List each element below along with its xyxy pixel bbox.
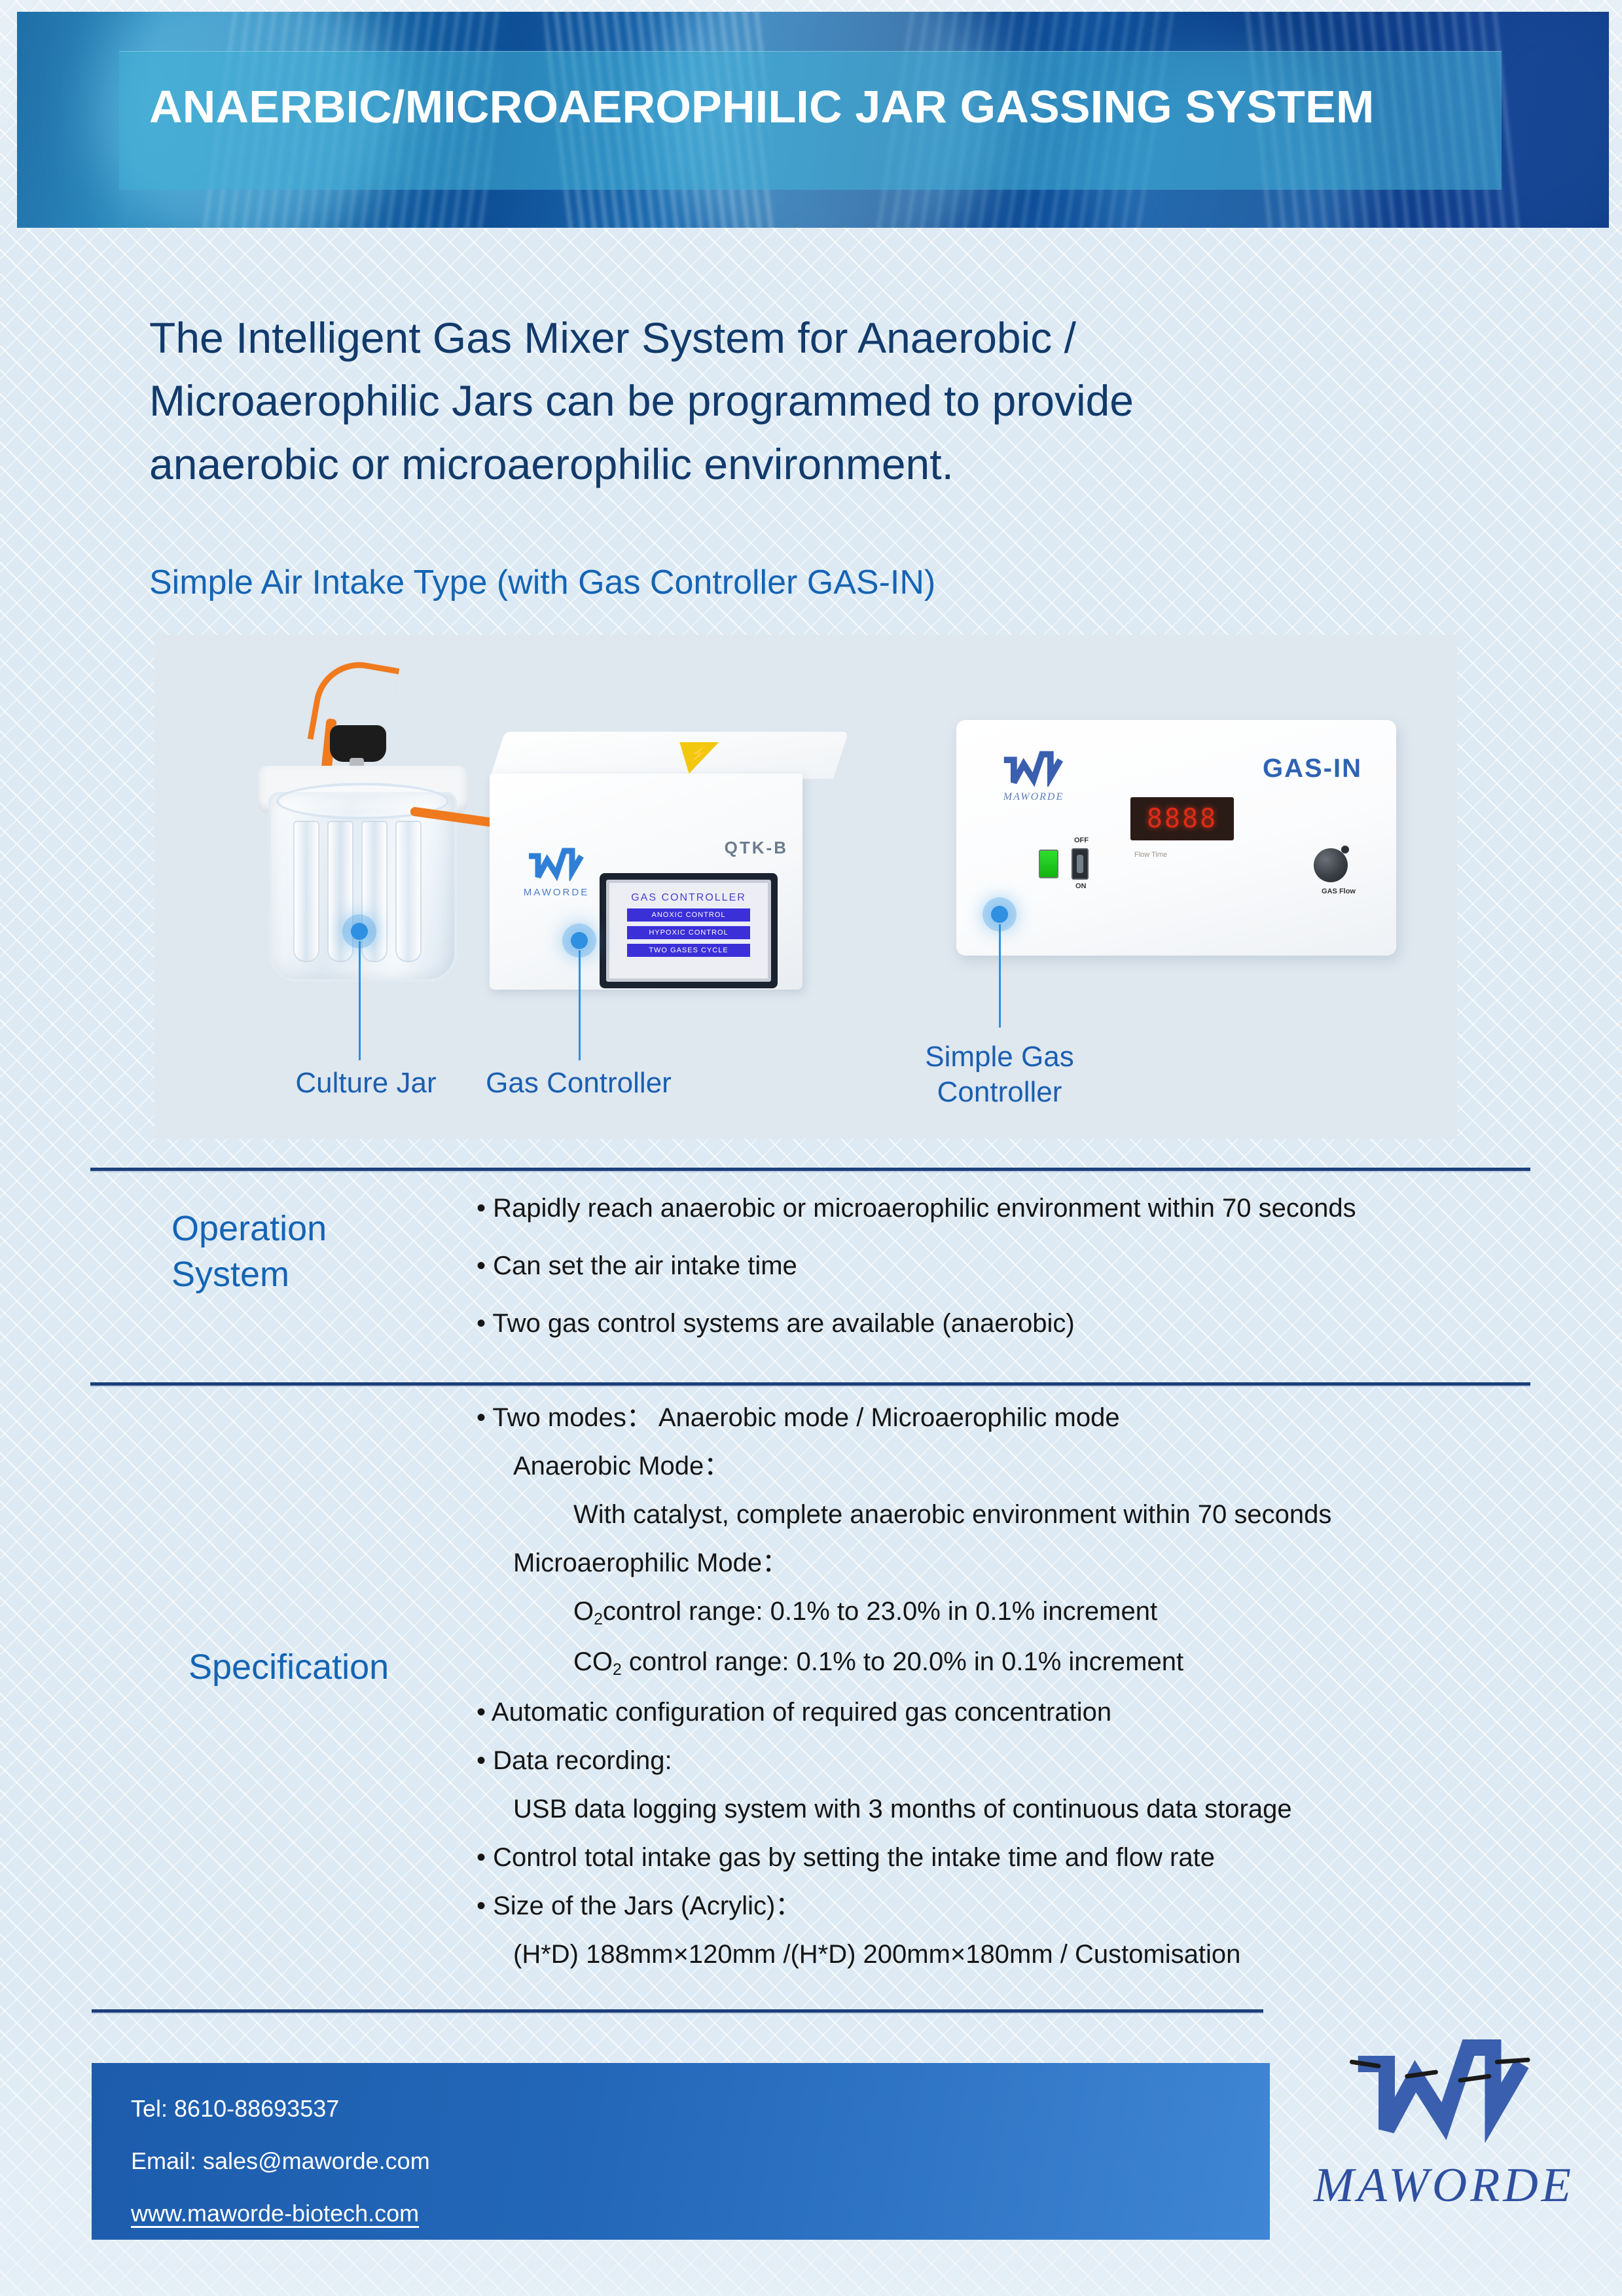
spec-bullet: • Control total intake gas by setting th… [477,1840,1331,1874]
simple-controller-brand-text: MAWORDE [994,791,1073,803]
high-voltage-warning-icon [670,742,719,774]
maworde-logo-icon [1346,2026,1542,2151]
gas-controller-top-panel [490,732,848,779]
brand-logo: MAWORDE [1313,2026,1575,2214]
culture-jar-illustration [246,661,495,988]
jar-tube [293,821,319,962]
section-label-specification: Specification [189,1644,389,1690]
intro-line-1: The Intelligent Gas Mixer System for Ana… [149,306,1452,369]
gas-controller-illustration: QTK-B MAWORDE GAS CONTROLLER ANOXIC CONT… [490,732,833,1007]
gas-in-display-value: 8888 [1147,804,1217,834]
footer-email[interactable]: Email: sales@maworde.com [131,2149,430,2173]
spec-bullet-co2: CO2 control range: 0.1% to 20.0% in 0.1%… [477,1645,1331,1681]
callout-dot-culture-jar [351,923,368,940]
gas-flow-knob-label: GAS Flow [1322,888,1356,895]
gas-controller-brand-logo: MAWORDE [517,847,596,898]
section-label-line-1: Operation [171,1206,327,1251]
jar-tube [327,821,353,962]
footer-telephone: Tel: 8610-88693537 [131,2097,339,2121]
page-title: ANAERBIC/MICROAEROPHILIC JAR GASSING SYS… [149,84,1458,130]
section-label-operation-system: Operation System [171,1206,327,1297]
callout-label-culture-jar: Culture Jar [264,1066,467,1101]
jar-tube [361,821,387,962]
spec-bullet: Microaerophilic Mode： [477,1546,1331,1580]
datasheet-page: ANAERBIC/MICROAEROPHILIC JAR GASSING SYS… [0,0,1622,2296]
spec-bullet: Anaerobic Mode： [477,1449,1331,1483]
gas-in-model-label: GAS-IN [1263,754,1362,783]
callout-dot-gas-controller [571,932,588,949]
gas-controller-touchscreen[interactable]: GAS CONTROLLER ANOXIC CONTROL HYPOXIC CO… [600,873,778,988]
touchscreen-display[interactable]: GAS CONTROLLER ANOXIC CONTROL HYPOXIC CO… [606,880,771,982]
gas-in-switch-off-label: OFF [1074,836,1089,844]
section-divider-middle [90,1382,1530,1386]
gas-flow-knob[interactable] [1314,848,1348,882]
gas-in-digital-display: 8888 [1130,797,1234,840]
section-divider-top [90,1168,1530,1171]
spec-bullet: With catalyst, complete anaerobic enviro… [477,1498,1331,1532]
touchscreen-button-hypoxic[interactable]: HYPOXIC CONTROL [627,926,751,939]
touchscreen-button-anoxic[interactable]: ANOXIC CONTROL [627,908,751,922]
simple-controller-brand-logo: MAWORDE [994,750,1073,803]
footer-website-link[interactable]: www.maworde-biotech.com [131,2202,419,2225]
callout-label-gas-controller: Gas Controller [467,1066,690,1101]
callout-leader-gas-controller [579,950,581,1060]
spec-bullet: (H*D) 188mm×120mm /(H*D) 200mm×180mm / C… [477,1937,1331,1971]
spec-bullet: • Data recording: [477,1744,1331,1778]
spec-bullet-o2: O2control range: 0.1% to 23.0% in 0.1% i… [477,1594,1331,1630]
spec-bullet: • Two modes： Anaerobic mode / Microaerop… [477,1401,1331,1435]
simple-gas-controller-illustration: MAWORDE GAS-IN 8888 Flow Time OFF ON GAS… [956,720,1396,956]
jar-tube [395,821,422,962]
specification-bullets: • Two modes： Anaerobic mode / Microaerop… [477,1401,1331,1986]
brand-name: MAWORDE [1313,2158,1575,2214]
footer-contact-box: Tel: 8610-88693537 Email: sales@maworde.… [92,2063,1270,2240]
spec-bullet: USB data logging system with 3 months of… [477,1792,1331,1826]
gas-controller-brand-text: MAWORDE [517,887,596,898]
gas-in-indicator-button[interactable] [1039,850,1058,878]
gas-in-power-toggle[interactable] [1072,848,1089,880]
intro-paragraph: The Intelligent Gas Mixer System for Ana… [149,306,1452,495]
operation-bullet: • Two gas control systems are available … [477,1306,1356,1340]
section-label-line-2: System [171,1251,327,1297]
gas-controller-front-panel: QTK-B MAWORDE GAS CONTROLLER ANOXIC CONT… [490,774,802,990]
callout-leader-culture-jar [359,941,361,1060]
intro-line-3: anaerobic or microaerophilic environment… [149,433,1452,495]
touchscreen-title: GAS CONTROLLER [631,892,746,904]
operation-bullet: • Can set the air intake time [477,1249,1356,1283]
operation-bullet: • Rapidly reach anaerobic or microaeroph… [477,1191,1356,1225]
jar-valve-knob-icon [330,725,386,762]
intro-line-2: Microaerophilic Jars can be programmed t… [149,369,1452,432]
operation-system-bullets: • Rapidly reach anaerobic or microaeroph… [477,1191,1356,1364]
gas-in-switch-on-label: ON [1075,882,1087,890]
jar-body [268,792,457,982]
maworde-logo-icon [1000,750,1068,787]
touchscreen-button-cycle[interactable]: TWO GASES CYCLE [627,944,751,957]
callout-leader-simple-gas-controller [999,924,1001,1028]
maworde-logo-icon [525,847,588,881]
spec-bullet: • Automatic configuration of required ga… [477,1695,1331,1729]
callout-dot-simple-gas-controller [991,906,1008,923]
product-image-panel: QTK-B MAWORDE GAS CONTROLLER ANOXIC CONT… [154,635,1457,1139]
callout-label-simple-gas-controller: Simple Gas Controller [892,1039,1108,1109]
section-subheading: Simple Air Intake Type (with Gas Control… [149,564,935,601]
gas-in-panel-text: Flow Time [1134,851,1167,859]
gas-controller-model-label: QTK-B [725,838,788,858]
section-divider-bottom [92,2009,1263,2013]
spec-bullet: • Size of the Jars (Acrylic)： [477,1889,1331,1923]
